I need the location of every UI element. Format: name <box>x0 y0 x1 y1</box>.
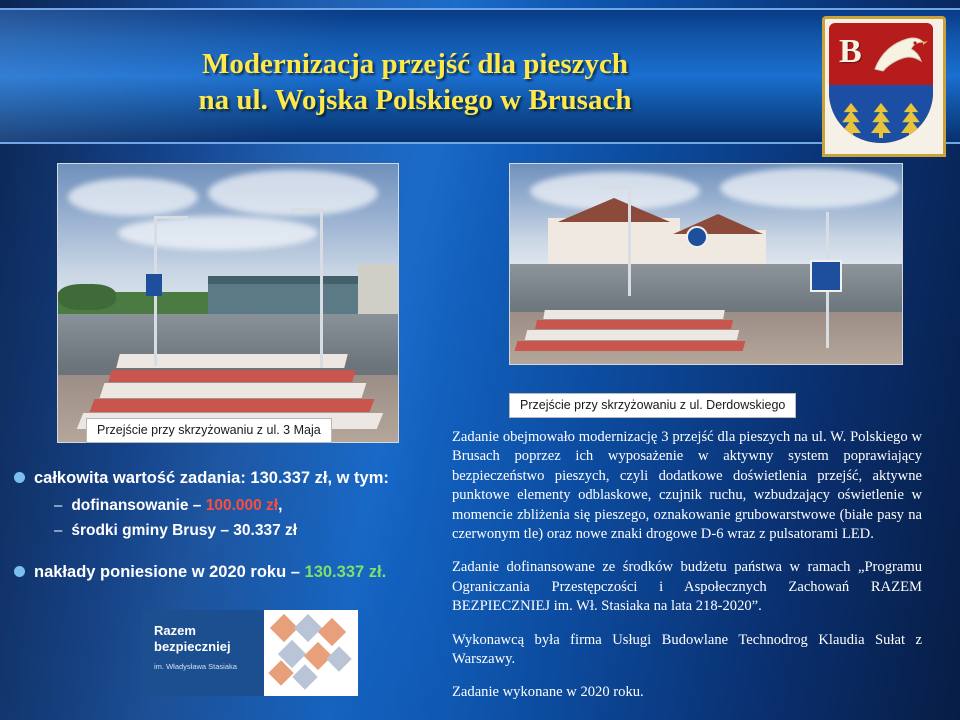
fir-tree-icon-1 <box>841 101 861 135</box>
bullet-dot-icon <box>14 566 25 577</box>
logo-line-1: Razem <box>154 623 264 639</box>
crosswalk-stripe <box>100 383 367 398</box>
road-sign-round <box>686 226 708 248</box>
coat-of-arms-letter: B <box>839 33 862 71</box>
photo-caption-left: Przejście przy skrzyżowaniu z ul. 3 Maja <box>86 418 332 443</box>
title-line-2: na ul. Wojska Polskiego w Brusach <box>0 82 830 118</box>
logo-chip <box>292 664 317 689</box>
dash-icon: – <box>54 494 62 517</box>
paragraph-scope: Zadanie obejmowało modernizację 3 przejś… <box>452 428 922 544</box>
slide: Modernizacja przejść dla pieszych na ul.… <box>0 0 960 720</box>
photo-caption-right: Przejście przy skrzyżowaniu z ul. Derdow… <box>509 393 796 418</box>
crosswalk-stripe <box>525 330 739 340</box>
griffin-icon <box>867 29 929 81</box>
bullet-list: całkowita wartość zadania: 130.337 zł, w… <box>14 466 444 588</box>
cloud <box>720 168 900 208</box>
logo-chip <box>318 618 346 646</box>
logo-chip <box>326 646 351 671</box>
fir-tree-icon-3 <box>901 101 921 135</box>
sub-prefix: dofinansowanie – <box>71 497 205 514</box>
crosswalk-stripe <box>90 399 375 412</box>
paragraph-funding: Zadanie dofinansowane ze środków budżetu… <box>452 558 922 616</box>
lamp-arm <box>598 186 630 189</box>
logo-line-2: bezpieczniej <box>154 639 264 655</box>
fir-tree-icon-2 <box>871 101 891 135</box>
coat-of-arms: B <box>822 16 946 157</box>
title-line-1: Modernizacja przejść dla pieszych <box>0 46 830 82</box>
logo-chip <box>294 614 322 642</box>
cloud <box>118 216 318 250</box>
crosswalk-stripe <box>543 310 725 319</box>
crosswalk-stripe <box>515 341 746 351</box>
tree <box>58 284 116 310</box>
amount-expenses: 130.337 zł. <box>305 563 387 581</box>
cloud <box>68 178 198 216</box>
road-sign-d6 <box>146 274 162 296</box>
coat-of-arms-shield: B <box>829 23 933 143</box>
bullet-text: nakłady poniesione w 2020 roku – 130.337… <box>34 560 386 584</box>
crosswalk-stripe <box>116 354 347 368</box>
photo-crossing-3-maja <box>57 163 399 443</box>
bullet-sub-item-own-funds: – środki gminy Brusy – 30.337 zł <box>54 519 444 542</box>
photo-crossing-derdowskiego <box>509 163 903 365</box>
lamp-post <box>320 208 323 368</box>
paragraph-completion: Zadanie wykonane w 2020 roku. <box>452 683 922 702</box>
paragraph-contractor: Wykonawcą była firma Usługi Budowlane Te… <box>452 631 922 670</box>
dash-icon: – <box>54 519 62 542</box>
bullet-sub-text: dofinansowanie – 100.000 zł, <box>71 494 282 517</box>
logo-line-3: im. Władysława Stasiaka <box>154 662 264 671</box>
crosswalk-stripe <box>108 370 355 382</box>
amount-cofinancing: 100.000 zł <box>206 497 278 514</box>
bullet-dot-icon <box>14 472 25 483</box>
program-logo: Razem bezpieczniej im. Władysława Stasia… <box>142 610 358 696</box>
sub-suffix: , <box>278 497 282 514</box>
bullet-item-total-value: całkowita wartość zadania: 130.337 zł, w… <box>14 466 444 490</box>
crosswalk-stripe <box>535 320 733 329</box>
bullet-text: całkowita wartość zadania: 130.337 zł, w… <box>34 466 389 490</box>
bullet-sub-text: środki gminy Brusy – 30.337 zł <box>71 519 297 542</box>
lamp-post <box>628 186 631 296</box>
bullet-sub-item-cofinancing: – dofinansowanie – 100.000 zł, <box>54 494 444 517</box>
description-text: Zadanie obejmowało modernizację 3 przejś… <box>452 428 922 717</box>
lamp-arm <box>290 208 322 211</box>
spacer <box>14 544 444 560</box>
bullet-text-prefix: nakłady poniesione w 2020 roku – <box>34 563 305 581</box>
lamp-arm <box>154 216 188 219</box>
program-logo-text: Razem bezpieczniej im. Władysława Stasia… <box>142 610 264 696</box>
page-title: Modernizacja przejść dla pieszych na ul.… <box>0 46 830 118</box>
bullet-item-expenses-2020: nakłady poniesione w 2020 roku – 130.337… <box>14 560 444 584</box>
program-logo-mark <box>264 610 358 696</box>
road-sign-d6 <box>810 260 842 292</box>
